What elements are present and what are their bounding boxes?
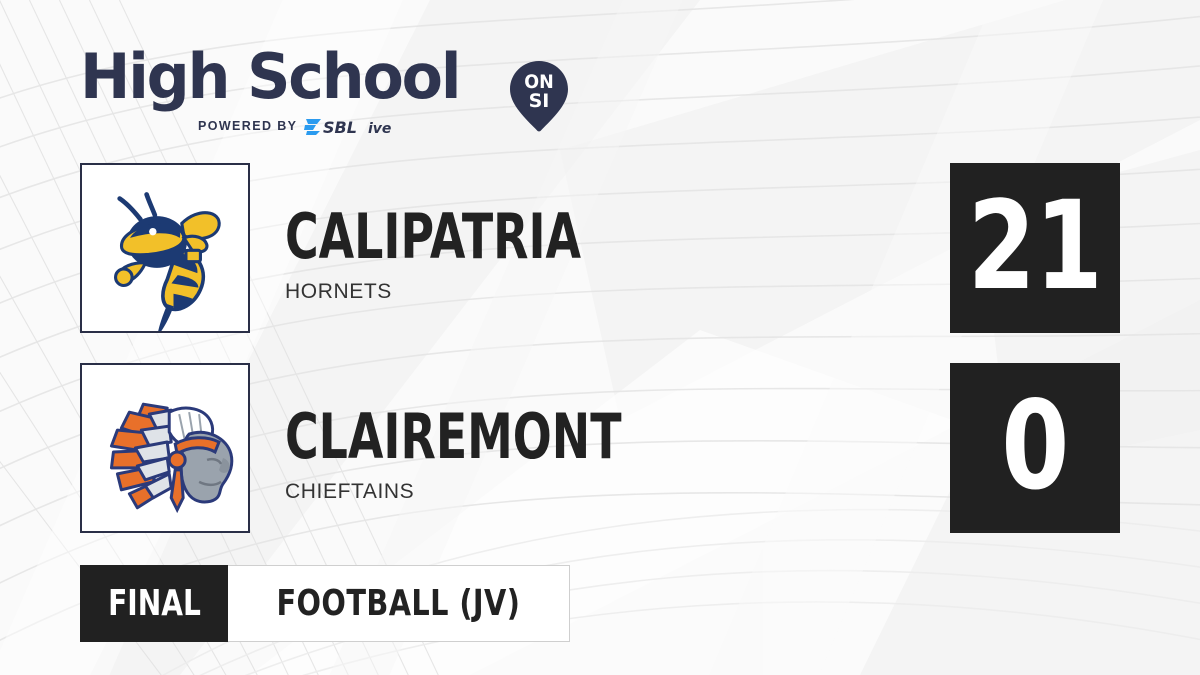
team-score: 21 xyxy=(968,185,1102,307)
team-logo-box xyxy=(80,363,250,533)
team-score-box: 0 xyxy=(950,363,1120,533)
on-si-pin-icon: ON SI xyxy=(508,59,570,133)
team-name: CLAIREMONT xyxy=(285,406,622,468)
brand-lockup: High School ON SI POWERED BY SBL ive xyxy=(80,28,510,138)
svg-text:SBL: SBL xyxy=(323,118,357,136)
svg-text:SI: SI xyxy=(529,90,550,112)
team-mascot: HORNETS xyxy=(285,280,392,304)
team-score-box: 21 xyxy=(950,163,1120,333)
team-mascot: CHIEFTAINS xyxy=(285,480,414,504)
sblive-logo-icon: SBL ive xyxy=(304,116,406,136)
team-name: CALIPATRIA xyxy=(285,206,581,268)
game-status-bar: FINAL FOOTBALL (JV) xyxy=(80,565,570,642)
brand-wordmark: High School xyxy=(80,46,459,108)
sport-label-box: FOOTBALL (JV) xyxy=(228,565,570,642)
powered-by-lockup: POWERED BY SBL ive xyxy=(198,116,406,136)
hornet-mascot-icon xyxy=(82,165,248,331)
game-state-label: FINAL xyxy=(108,583,201,624)
powered-by-label: POWERED BY xyxy=(198,119,297,133)
sport-label: FOOTBALL (JV) xyxy=(277,583,521,624)
team-logo-box xyxy=(80,163,250,333)
svg-text:ive: ive xyxy=(368,121,391,136)
team-score: 0 xyxy=(1001,385,1068,507)
chieftain-mascot-icon xyxy=(82,365,248,531)
game-state-badge: FINAL xyxy=(80,565,228,642)
